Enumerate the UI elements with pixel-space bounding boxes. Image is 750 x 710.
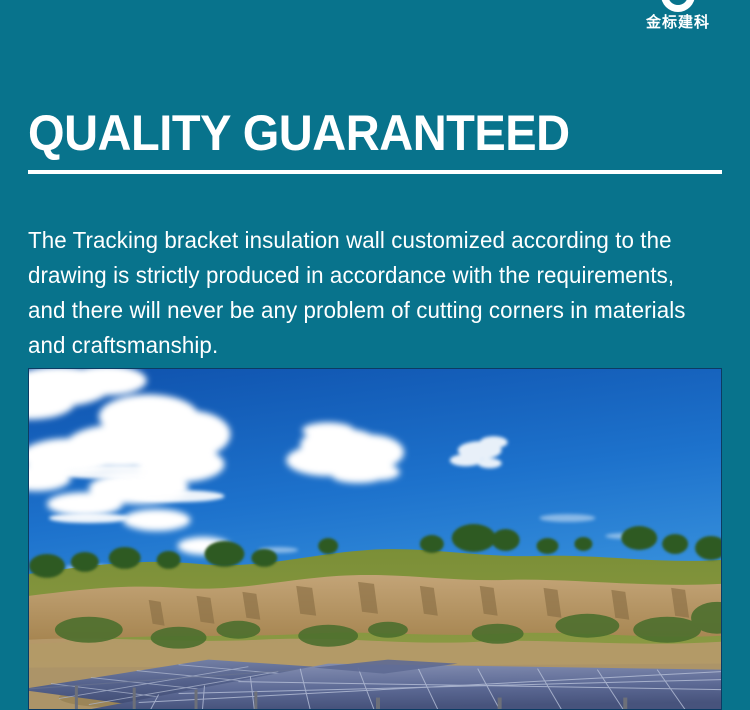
body-paragraph: The Tracking bracket insulation wall cus… xyxy=(28,223,707,363)
solar-farm-photo xyxy=(28,368,722,710)
brand-logo-text: 金标建科 xyxy=(628,14,728,31)
promo-banner: 金标建科 QUALITY GUARANTEED The Tracking bra… xyxy=(0,0,750,710)
solar-farm-illustration xyxy=(29,369,721,709)
circular-brand-mark-icon xyxy=(661,0,695,12)
divider xyxy=(28,170,722,174)
page-title: QUALITY GUARANTEED xyxy=(28,106,570,160)
brand-logo: 金标建科 xyxy=(628,0,728,31)
